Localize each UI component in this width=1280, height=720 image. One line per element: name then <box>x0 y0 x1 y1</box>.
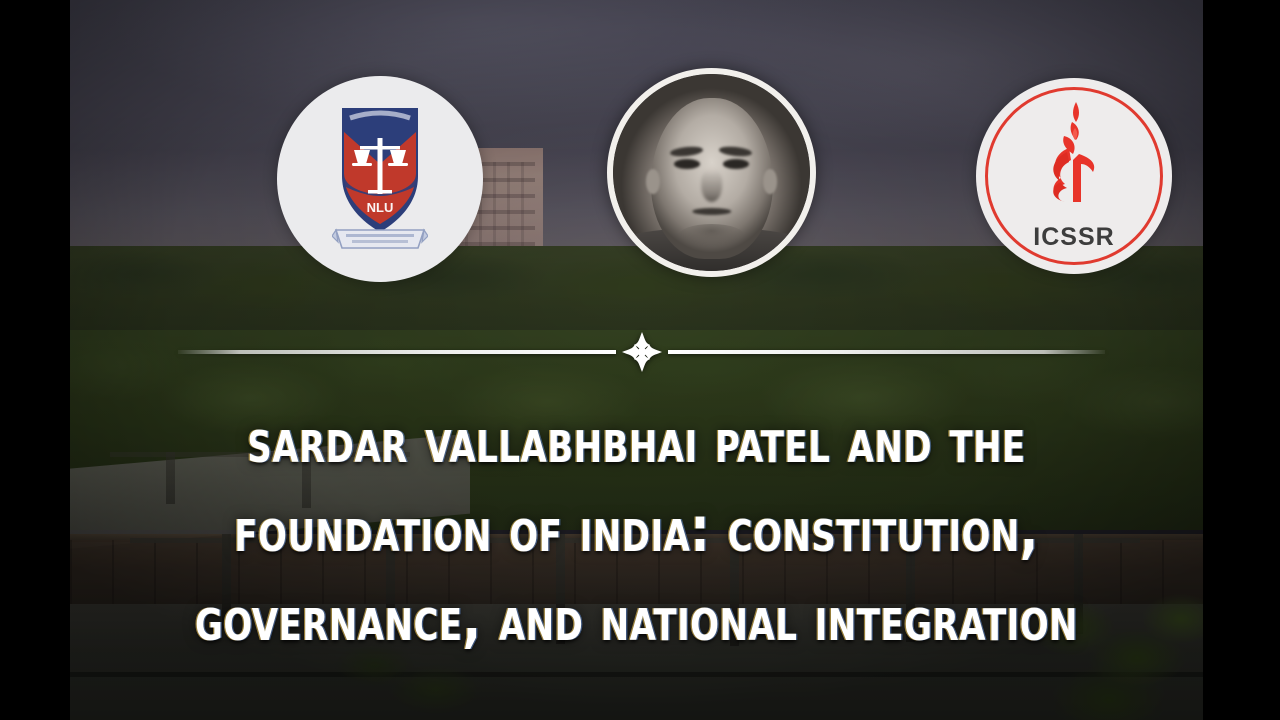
portrait-nose <box>701 169 723 202</box>
svg-text:NLU: NLU <box>367 200 394 215</box>
letterbox-bar-left <box>0 0 70 720</box>
divider-line-left <box>178 350 616 354</box>
event-title: Sardar Vallabhbhai Patel and the Foundat… <box>70 396 1203 663</box>
title-line-3: Governance, and National Integration <box>158 574 1115 663</box>
icssr-label: ICSSR <box>976 223 1172 252</box>
fleuron-cross-ornament-icon <box>620 330 664 374</box>
portrait-eye-left <box>674 159 700 169</box>
portrait-chin-shadow <box>678 224 745 248</box>
letterbox-bar-right <box>1203 0 1280 720</box>
divider-line-right <box>668 350 1106 354</box>
title-card-stage: NLU <box>0 0 1280 720</box>
university-logo: NLU <box>277 76 483 282</box>
portrait-ear-right <box>763 169 777 195</box>
title-line-2: Foundation of India: Constitution, <box>158 485 1115 574</box>
video-content-area: NLU <box>70 0 1203 720</box>
portrait-image <box>613 74 810 271</box>
icssr-logo: ICSSR <box>976 78 1172 274</box>
title-line-1: Sardar Vallabhbhai Patel and the <box>158 396 1115 485</box>
icssr-flame-icon <box>1031 100 1117 210</box>
university-crest-icon: NLU <box>332 102 428 252</box>
portrait-eye-right <box>723 159 749 169</box>
patel-portrait-avatar <box>607 68 816 277</box>
decorative-divider <box>178 330 1105 374</box>
